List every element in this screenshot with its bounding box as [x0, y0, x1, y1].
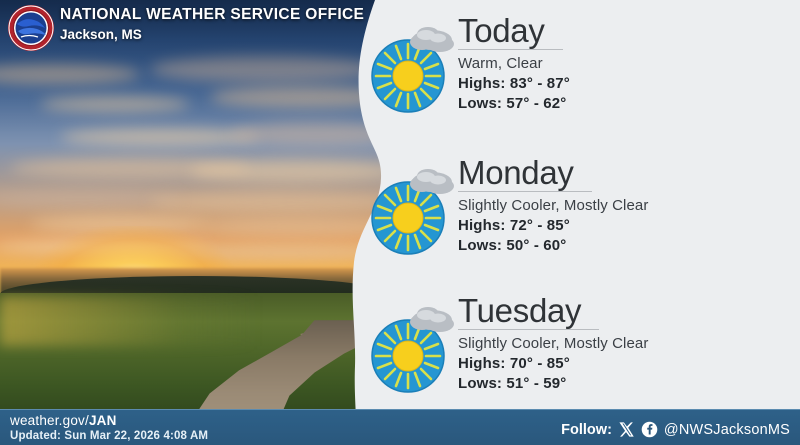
- social-handle[interactable]: @NWSJacksonMS: [664, 422, 790, 438]
- sun-behind-cloud-icon: [366, 164, 462, 260]
- header: NATIONAL WEATHER SERVICE OFFICE Jackson,…: [0, 0, 392, 56]
- forecast-highs: Highs: 83° - 87°: [458, 75, 788, 92]
- forecast-condition: Warm, Clear: [458, 55, 788, 72]
- forecast-highs: Highs: 72° - 85°: [458, 217, 788, 234]
- weather-gov-link[interactable]: weather.gov/JAN: [10, 413, 208, 428]
- forecast-lows: Lows: 51° - 59°: [458, 375, 788, 392]
- forecast-text: Tuesday Slightly Cooler, Mostly Clear Hi…: [458, 294, 788, 392]
- forecast-lows: Lows: 50° - 60°: [458, 237, 788, 254]
- x-twitter-icon[interactable]: [618, 421, 635, 438]
- weather-forecast-graphic: NATIONAL WEATHER SERVICE OFFICE Jackson,…: [0, 0, 800, 445]
- forecast-row: Monday Slightly Cooler, Mostly Clear Hig…: [366, 150, 796, 270]
- follow-label: Follow:: [561, 422, 612, 438]
- forecast-condition: Slightly Cooler, Mostly Clear: [458, 335, 788, 352]
- forecast-highs: Highs: 70° - 85°: [458, 355, 788, 372]
- forecast-day-name: Today: [458, 14, 563, 50]
- forecast-text: Monday Slightly Cooler, Mostly Clear Hig…: [458, 156, 788, 254]
- footer-social: Follow: @NWSJacksonMS: [561, 421, 790, 438]
- footer-left: weather.gov/JAN Updated: Sun Mar 22, 202…: [10, 413, 208, 442]
- sun-behind-cloud-icon: [366, 302, 462, 398]
- forecast-text: Today Warm, Clear Highs: 83° - 87° Lows:…: [458, 14, 788, 112]
- forecast-condition: Slightly Cooler, Mostly Clear: [458, 197, 788, 214]
- url-prefix: weather.gov/: [10, 413, 89, 428]
- office-location: Jackson, MS: [60, 27, 364, 42]
- updated-timestamp: Updated: Sun Mar 22, 2026 4:08 AM: [10, 430, 208, 442]
- facebook-icon[interactable]: [641, 421, 658, 438]
- forecast-row: Today Warm, Clear Highs: 83° - 87° Lows:…: [366, 8, 796, 128]
- forecast-day-name: Tuesday: [458, 294, 599, 330]
- nws-seal-icon: [7, 4, 55, 52]
- page-title: NATIONAL WEATHER SERVICE OFFICE: [60, 6, 364, 24]
- footer-bar: weather.gov/JAN Updated: Sun Mar 22, 202…: [0, 409, 800, 445]
- sun-behind-cloud-icon: [366, 22, 462, 118]
- forecast-row: Tuesday Slightly Cooler, Mostly Clear Hi…: [366, 288, 796, 408]
- header-text: NATIONAL WEATHER SERVICE OFFICE Jackson,…: [60, 6, 364, 42]
- forecast-day-name: Monday: [458, 156, 592, 192]
- office-code: JAN: [89, 413, 117, 428]
- photo-tint: [0, 0, 392, 445]
- sunset-landscape-photo: [0, 0, 392, 445]
- forecast-lows: Lows: 57° - 62°: [458, 95, 788, 112]
